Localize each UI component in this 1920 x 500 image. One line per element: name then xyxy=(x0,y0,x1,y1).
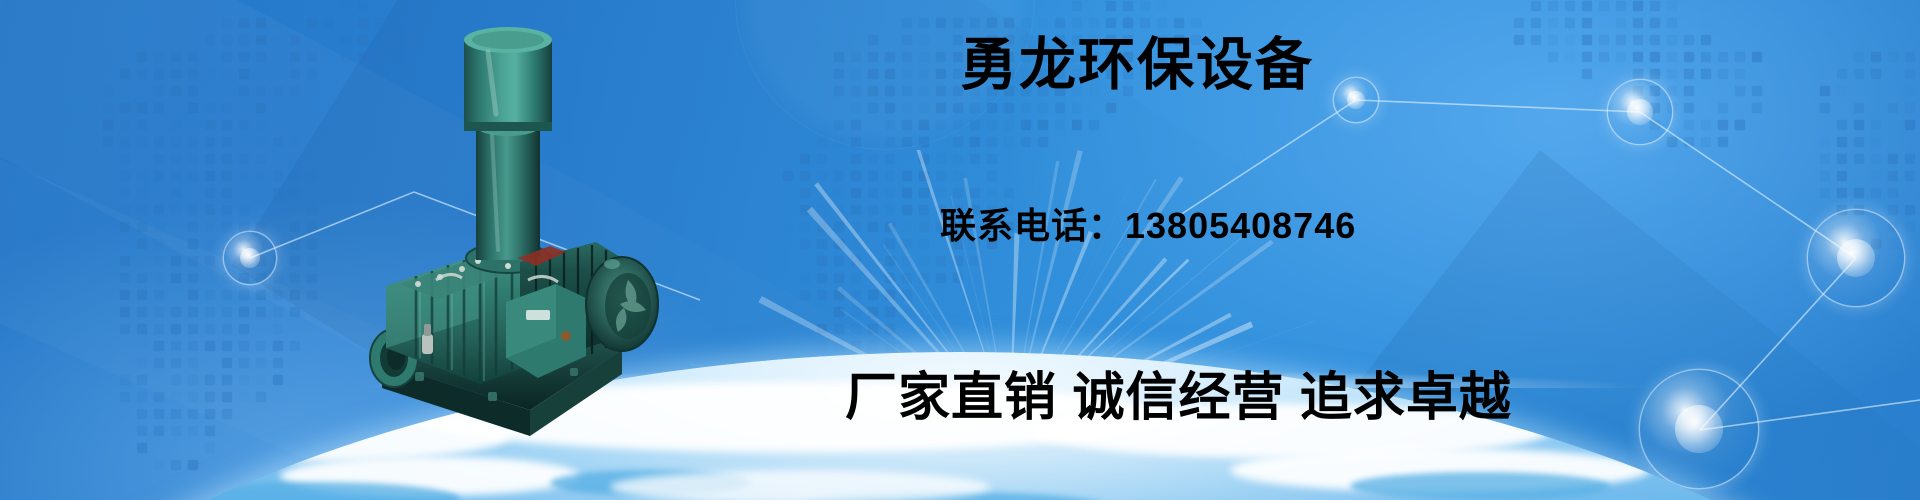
page-title: 勇龙环保设备 xyxy=(960,34,1314,97)
slogan-text: 厂家直销 诚信经营 追求卓越 xyxy=(845,355,1512,430)
promo-banner: 勇龙环保设备 联系电话：13805408746 厂家直销 诚信经营 追求卓越 xyxy=(0,0,1920,500)
contact-phone-text: 联系电话：13805408746 xyxy=(940,197,1356,249)
banner-text-block: 勇龙环保设备 联系电话：13805408746 厂家直销 诚信经营 追求卓越 xyxy=(0,0,1920,500)
